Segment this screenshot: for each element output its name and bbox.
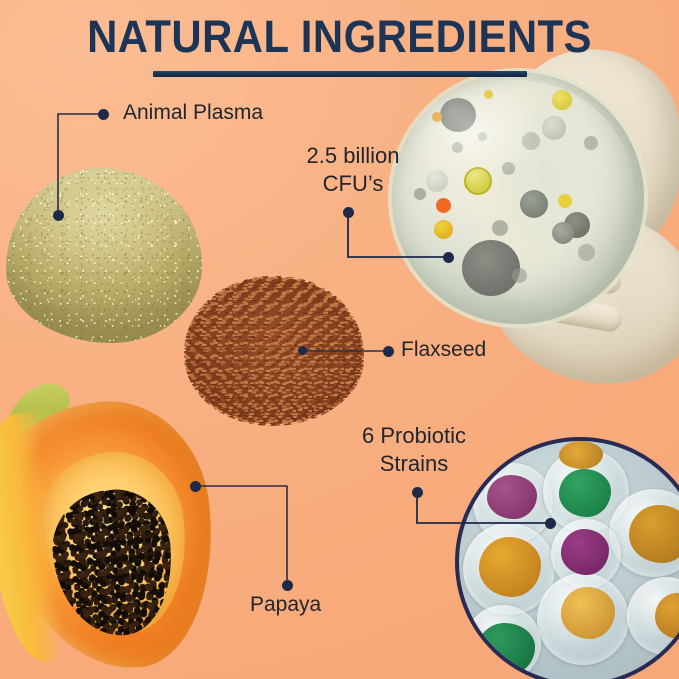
colony-purple <box>487 475 537 519</box>
colony <box>584 136 598 150</box>
colony <box>512 268 527 283</box>
colony <box>492 220 508 236</box>
colony-gold <box>561 587 615 639</box>
colony <box>520 190 548 218</box>
marker-animal-plasma-label <box>98 109 109 120</box>
marker-flaxseed-target <box>298 346 307 355</box>
colony-amber <box>559 441 603 469</box>
colony-green <box>559 469 611 517</box>
marker-animal-plasma-target <box>53 210 64 221</box>
callout-label-animal-plasma: Animal Plasma <box>123 100 263 126</box>
colony <box>434 220 453 239</box>
callout-label-probiotic: 6 Probiotic Strains <box>351 422 477 478</box>
probiotic-plate-image <box>455 437 679 679</box>
colony <box>436 198 451 213</box>
marker-probiotic-label <box>412 487 423 498</box>
marker-papaya-label <box>282 580 293 591</box>
callout-label-papaya: Papaya <box>250 592 321 618</box>
marker-papaya-target <box>190 481 201 492</box>
colony <box>552 90 572 110</box>
marker-probiotic-target <box>545 518 556 529</box>
marker-cfu-label <box>343 207 354 218</box>
petri-dish <box>392 72 644 324</box>
page-title: NATURAL INGREDIENTS <box>24 14 655 59</box>
colony <box>542 116 566 140</box>
dish-sheen <box>407 82 543 183</box>
callout-label-flaxseed: Flaxseed <box>401 337 486 363</box>
title-underline <box>153 71 527 77</box>
colony <box>414 188 426 200</box>
ingredients-infographic: NATURAL INGREDIENTS Animal Plasma 2.5 bi… <box>0 0 679 679</box>
colony <box>558 194 572 208</box>
colony-amber <box>479 537 541 597</box>
animal-plasma-image <box>6 168 202 343</box>
marker-cfu-target <box>443 252 454 263</box>
colony-magenta <box>561 529 609 575</box>
papaya-image <box>0 380 224 679</box>
colony <box>578 244 595 261</box>
plasma-grain-texture <box>6 168 202 343</box>
callout-label-cfu: 2.5 billion CFU’s <box>297 142 409 198</box>
colony <box>552 222 574 244</box>
petri-dish-image <box>386 62 679 362</box>
marker-flaxseed-label <box>383 346 394 357</box>
colony-green <box>477 623 535 675</box>
colony <box>462 240 520 296</box>
